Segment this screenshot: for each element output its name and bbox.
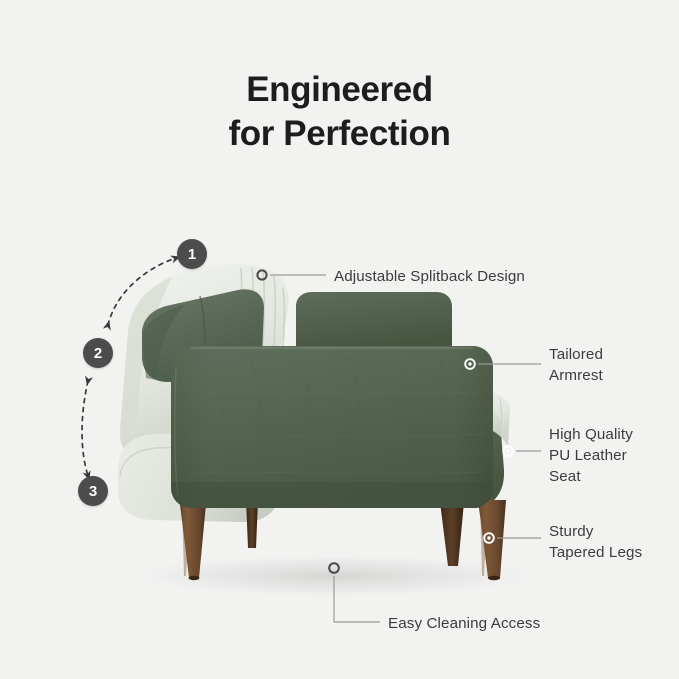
armrest-panel (171, 346, 493, 508)
callout-label-legs: Sturdy Tapered Legs (549, 521, 642, 563)
step-badge-1[interactable]: 1 (177, 239, 207, 269)
callout-label-armrest: Tailored Armrest (549, 344, 603, 386)
step-badge-2[interactable]: 2 (83, 338, 113, 368)
callout-label-splitback: Adjustable Splitback Design (334, 266, 525, 287)
infographic-canvas: Engineered for Perfection (0, 0, 679, 679)
marker-leather (503, 446, 513, 456)
callout-label-leather: High Quality PU Leather Seat (549, 424, 633, 487)
arrow-2-to-3 (82, 381, 88, 476)
callout-label-cleaning: Easy Cleaning Access (388, 613, 540, 634)
backrest (296, 292, 452, 354)
step-badge-3[interactable]: 3 (78, 476, 108, 506)
front-right-leg (440, 502, 464, 566)
